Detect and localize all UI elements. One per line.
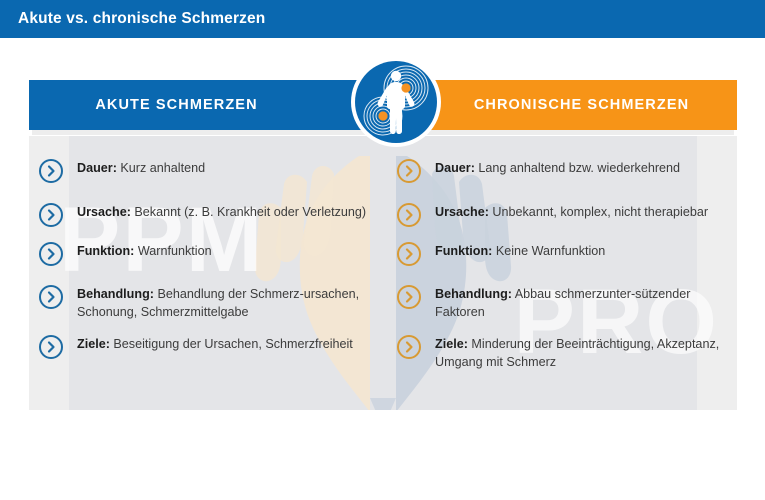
- list-item: Dauer: Lang anhaltend bzw. wiederkehrend: [396, 157, 736, 184]
- list-item-label: Behandlung:: [435, 287, 512, 301]
- column-header-acute-label: AKUTE SCHMERZEN: [29, 80, 376, 130]
- chevron-right-circle-icon: [38, 202, 64, 228]
- list-item-text: Dauer: Lang anhaltend bzw. wiederkehrend: [435, 157, 680, 178]
- list-item: Ziele: Beseitigung der Ursachen, Schmerz…: [38, 333, 378, 360]
- list-item-text: Ursache: Unbekannt, komplex, nicht thera…: [435, 201, 708, 222]
- chevron-right-circle-icon: [396, 158, 422, 184]
- column-header-acute: AKUTE SCHMERZEN: [29, 80, 376, 130]
- chevron-right-circle-icon: [38, 284, 64, 310]
- chevron-right-circle-icon: [396, 334, 422, 360]
- chevron-right-circle-icon: [396, 241, 422, 267]
- chevron-right-circle-icon: [38, 158, 64, 184]
- list-item-text: Funktion: Keine Warnfunktion: [435, 240, 605, 261]
- title-bar: Akute vs. chronische Schmerzen: [0, 0, 765, 38]
- list-item-text: Ziele: Beseitigung der Ursachen, Schmerz…: [77, 333, 353, 354]
- list-item-label: Dauer:: [77, 161, 117, 175]
- list-item: Dauer: Kurz anhaltend: [38, 157, 378, 184]
- list-item-label: Ursache:: [435, 205, 489, 219]
- list-item-text: Behandlung: Behandlung der Schmerz-ursac…: [77, 283, 378, 321]
- chevron-right-circle-icon: [396, 202, 422, 228]
- list-item: Behandlung: Abbau schmerzunter-sützender…: [396, 283, 736, 321]
- list-item: Funktion: Warnfunktion: [38, 240, 378, 267]
- list-item-text: Ursache: Bekannt (z. B. Krankheit oder V…: [77, 201, 366, 222]
- list-item-value: Bekannt (z. B. Krankheit oder Verletzung…: [134, 205, 366, 219]
- list-item: Funktion: Keine Warnfunktion: [396, 240, 736, 267]
- list-item-value: Keine Warnfunktion: [496, 244, 605, 258]
- pain-body-icon: [355, 61, 437, 143]
- center-badge: [351, 57, 441, 147]
- chevron-right-circle-icon: [396, 284, 422, 310]
- list-item-text: Behandlung: Abbau schmerzunter-sützender…: [435, 283, 736, 321]
- chevron-right-circle-icon: [38, 241, 64, 267]
- list-item-label: Dauer:: [435, 161, 475, 175]
- column-header-chronic: CHRONISCHE SCHMERZEN: [390, 80, 737, 130]
- list-item-value: Unbekannt, komplex, nicht therapiebar: [492, 205, 708, 219]
- list-item-text: Funktion: Warnfunktion: [77, 240, 212, 261]
- page-title: Akute vs. chronische Schmerzen: [18, 10, 265, 28]
- list-item: Behandlung: Behandlung der Schmerz-ursac…: [38, 283, 378, 321]
- list-item-label: Ursache:: [77, 205, 131, 219]
- column-chronic: Dauer: Lang anhaltend bzw. wiederkehrend…: [396, 157, 736, 385]
- list-item-value: Warnfunktion: [138, 244, 212, 258]
- list-item: Ursache: Unbekannt, komplex, nicht thera…: [396, 201, 736, 228]
- list-item-value: Kurz anhaltend: [120, 161, 205, 175]
- infographic-root: Akute vs. chronische Schmerzen PPM PRO A…: [0, 0, 765, 500]
- list-item-text: Ziele: Minderung der Beeinträchtigung, A…: [435, 333, 736, 371]
- list-item-label: Ziele:: [77, 337, 110, 351]
- list-item-label: Ziele:: [435, 337, 468, 351]
- list-item-label: Behandlung:: [77, 287, 154, 301]
- list-item-text: Dauer: Kurz anhaltend: [77, 157, 205, 178]
- list-item-label: Funktion:: [77, 244, 134, 258]
- list-item: Ursache: Bekannt (z. B. Krankheit oder V…: [38, 201, 378, 228]
- list-item-value: Lang anhaltend bzw. wiederkehrend: [478, 161, 680, 175]
- chevron-right-circle-icon: [38, 334, 64, 360]
- column-acute: Dauer: Kurz anhaltend Ursache: Bekannt (…: [38, 157, 378, 374]
- list-item: Ziele: Minderung der Beeinträchtigung, A…: [396, 333, 736, 371]
- list-item-value: Minderung der Beeinträchtigung, Akzeptan…: [435, 337, 719, 369]
- list-item-value: Beseitigung der Ursachen, Schmerzfreihei…: [113, 337, 352, 351]
- column-header-chronic-label: CHRONISCHE SCHMERZEN: [390, 80, 737, 130]
- list-item-label: Funktion:: [435, 244, 492, 258]
